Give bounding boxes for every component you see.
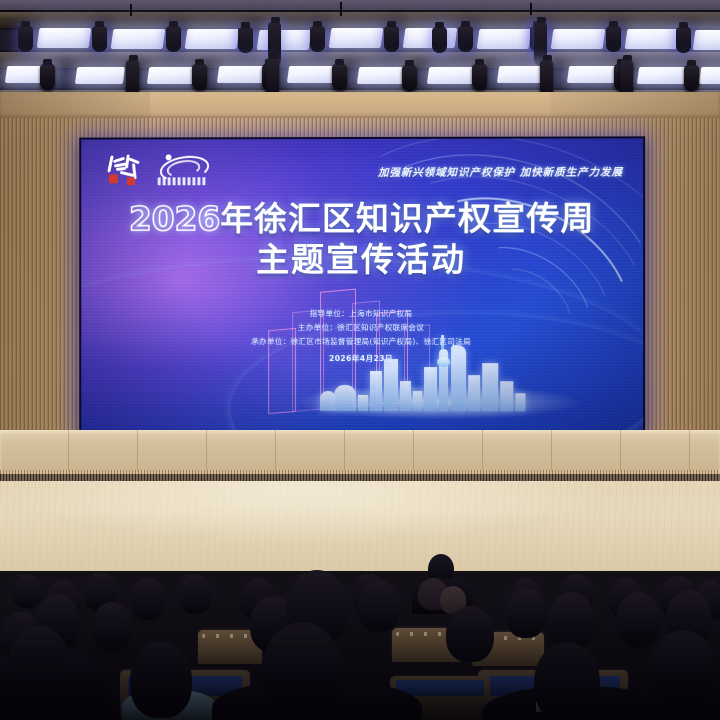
spotlight: [458, 26, 473, 52]
spotlight: [676, 27, 691, 53]
led-screen[interactable]: 加强新兴领域知识产权保护 加快新质生产力发展 2026年徐汇区知识产权宣传周 主…: [79, 136, 645, 433]
spotlight: [540, 60, 553, 96]
spotlight: [266, 58, 279, 96]
spotlight: [238, 27, 253, 53]
red-seal-icon: [109, 174, 118, 183]
audience-head: [534, 642, 600, 720]
rigging-cable: [340, 2, 342, 16]
screen-title-block: 2026年徐汇区知识产权宣传周 主题宣传活动: [81, 201, 643, 279]
panel-light: [329, 28, 384, 48]
audience-head: [178, 574, 212, 614]
panel-light: [699, 67, 720, 84]
panel-light: [625, 29, 680, 49]
spotlight: [40, 64, 55, 90]
audience-head: [506, 588, 546, 638]
spotlight: [18, 26, 33, 52]
audience-head: [262, 622, 342, 718]
spotlight: [606, 26, 621, 52]
ceiling-lighting-rig: [0, 0, 720, 96]
spotlight: [384, 26, 399, 52]
spotlight: [126, 60, 139, 96]
screen-title-line1-rest: 年徐汇区知识产权宣传周: [220, 199, 594, 238]
audience-head: [358, 580, 400, 632]
led-screen-content: 加强新兴领域知识产权保护 加快新质生产力发展 2026年徐汇区知识产权宣传周 主…: [81, 138, 643, 431]
stage-front-fascia: [0, 430, 720, 474]
panel-light: [357, 67, 407, 84]
audience-head: [616, 592, 660, 648]
audience-head: [92, 602, 132, 652]
seated-audience: [0, 530, 720, 720]
rigging-cable: [130, 4, 132, 16]
screen-tagline: 加强新兴领域知识产权保护 加快新质生产力发展: [378, 165, 623, 180]
stage-fascia-seams: [0, 430, 720, 474]
audience-head: [650, 630, 716, 712]
panel-light: [257, 30, 312, 50]
audience-head: [130, 642, 192, 718]
panel-light: [637, 67, 687, 84]
screen-title-year: 2026: [129, 199, 220, 238]
credit-line-organizer: 承办单位：徐汇区市场监督管理局(知识产权局)、徐汇区司法局: [81, 335, 643, 349]
credit-line-guidance: 指导单位：上海市知识产权局: [81, 307, 643, 321]
spotlight: [192, 64, 207, 90]
screen-logo-group: [107, 153, 209, 187]
spotlight: [92, 26, 107, 52]
panel-light: [693, 30, 720, 50]
auditorium-scene: 加强新兴领域知识产权保护 加快新质生产力发展 2026年徐汇区知识产权宣传周 主…: [0, 0, 720, 720]
audience-head: [446, 606, 494, 662]
panel-light: [567, 66, 617, 83]
spotlight: [620, 60, 633, 96]
audience-head: [8, 626, 70, 702]
screen-title-line1: 2026年徐汇区知识产权宣传周: [81, 201, 643, 238]
panel-light: [551, 29, 606, 49]
screen-title-line2: 主题宣传活动: [81, 242, 643, 279]
panel-light: [75, 67, 125, 84]
panel-light: [217, 66, 267, 83]
panel-light: [477, 29, 532, 49]
rigging-cable: [530, 3, 532, 15]
credit-line-host: 主办单位：徐汇区知识产权联席会议: [81, 321, 643, 335]
panel-light: [427, 67, 477, 84]
audience-head: [130, 578, 166, 620]
swoosh-globe-logo-icon: [156, 153, 210, 187]
spotlight: [332, 64, 347, 90]
spotlight: [472, 64, 487, 90]
chair-studs: [202, 634, 258, 638]
spotlight: [310, 26, 325, 52]
panel-light: [147, 67, 197, 84]
audience-head: [12, 574, 42, 608]
red-seal-icon: [127, 177, 135, 185]
spotlight: [432, 27, 447, 53]
panel-light: [111, 29, 166, 49]
screen-credits-block: 指导单位：上海市知识产权局 主办单位：徐汇区知识产权联席会议 承办单位：徐汇区市…: [81, 307, 643, 366]
spotlight: [684, 65, 699, 91]
panel-light: [37, 28, 92, 48]
panel-light: [287, 66, 337, 83]
spotlight: [166, 26, 181, 52]
panel-light: [403, 28, 458, 48]
screen-event-date: 2026年4月23日: [81, 351, 643, 365]
panel-light: [185, 29, 240, 49]
spotlight: [402, 65, 417, 91]
calligraphy-logo-icon: [107, 153, 143, 187]
